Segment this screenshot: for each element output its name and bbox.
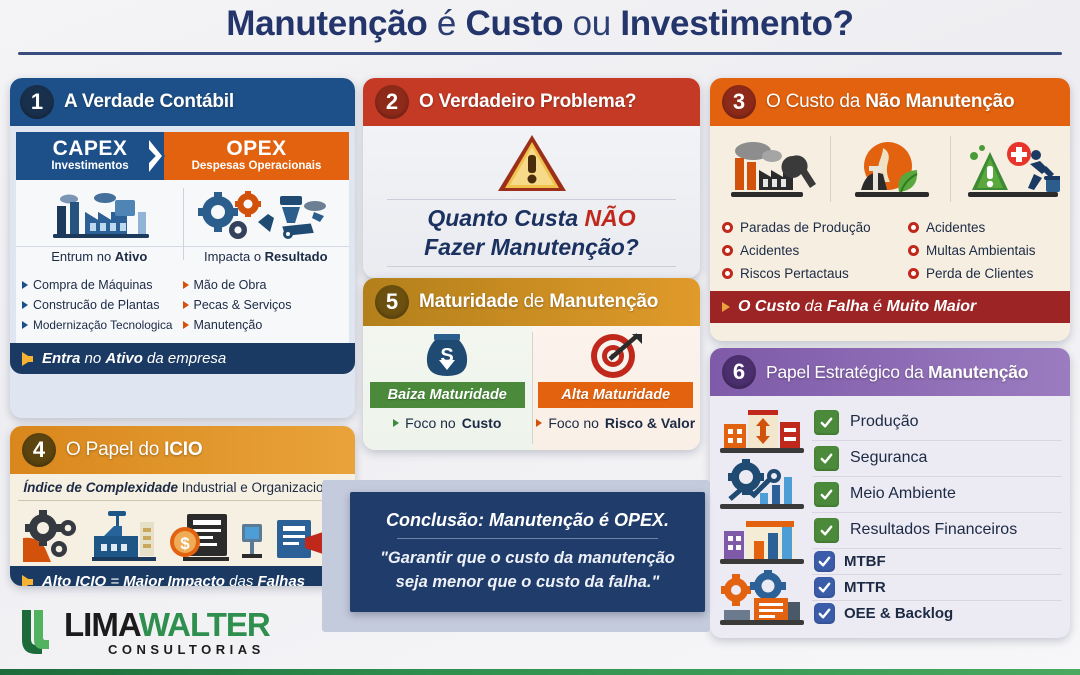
p5t1: Maturidade: [419, 291, 518, 312]
ring-bullet-icon: [908, 245, 919, 256]
opex-item-label: Pecas & Serviços: [194, 295, 292, 315]
yellow-arrow-icon: [22, 352, 33, 366]
panel2-divider-top: [387, 199, 677, 200]
panel2-divider-bottom: [387, 266, 677, 267]
buildings-arrows-icon: [720, 404, 804, 456]
bullet-triangle-icon: [183, 281, 189, 289]
panel4-subtitle-thin: Industrial e Organizacional: [178, 480, 342, 495]
check-icon: [814, 410, 839, 435]
panel4-number-badge: 4: [22, 433, 56, 467]
bullet-triangle-icon: [393, 419, 399, 427]
panel6-body: Produção Seguranca Meio Ambiente Resulta…: [710, 396, 1070, 634]
list-item: Meio Ambiente: [812, 477, 1062, 513]
panel1-header: 1 A Verdade Contábil: [10, 78, 355, 126]
check-label: Produção: [850, 413, 919, 431]
logo-tagline: CONSULTORIAS: [108, 643, 270, 656]
check-label: Resultados Financeiros: [850, 521, 1017, 539]
capex-sublabel: Investimentos: [51, 159, 128, 173]
panel1-number-badge: 1: [20, 85, 54, 119]
yellow-arrow-icon: [22, 575, 33, 587]
opex-block: OPEX Despesas Operacionais: [164, 132, 349, 180]
gear-chart-icon: [720, 459, 804, 511]
opex-label: OPEX: [226, 139, 286, 159]
company-logo: LIMAWALTER CONSULTORIAS: [18, 608, 270, 660]
list-item: Compra de Máquinas: [22, 275, 183, 295]
capex-opex-row: CAPEX Investimentos OPEX Despesas Operac…: [16, 132, 349, 180]
logo-name-dark: LIMA: [64, 606, 139, 643]
bullet-triangle-icon: [22, 321, 28, 329]
list-item: Construcão de Plantas: [22, 295, 183, 315]
concl-b: Manutenção é OPEX.: [489, 510, 669, 530]
panel1-icon-row: Entrum no Ativo: [16, 180, 349, 268]
q-line1-b: NÃO: [585, 205, 636, 231]
check-icon: [814, 603, 835, 624]
title-word-3: Custo: [466, 4, 564, 43]
list-item: Mão de Obra: [183, 275, 344, 295]
f4a: Alto ICIO: [42, 573, 106, 586]
check-icon: [814, 551, 835, 572]
panel4-title-thin: O Papel do: [66, 439, 164, 460]
check-label: Meio Ambiente: [850, 485, 956, 503]
f3b: da: [800, 298, 827, 315]
footer-a: Entra: [42, 350, 80, 367]
list-item: Acidentes: [722, 239, 908, 262]
high-foot-thin: Foco no: [548, 415, 599, 431]
p3-item-label: Acidentes: [926, 216, 985, 239]
safety-hazard-runner-icon: [960, 140, 1060, 206]
opex-item-label: Mão de Obra: [194, 275, 267, 295]
monitor-icon: [238, 508, 266, 564]
capex-item-label: Construcão de Plantas: [33, 295, 159, 315]
svg-text:$: $: [180, 534, 190, 553]
capex-item-label: Compra de Máquinas: [33, 275, 153, 295]
title-word-4: ou: [573, 4, 611, 43]
ring-bullet-icon: [908, 222, 919, 233]
list-item: Manutenção: [183, 315, 344, 335]
list-item: Paradas de Produção: [722, 216, 908, 239]
panel3-number-badge: 3: [722, 85, 756, 119]
panel1-title: A Verdade Contábil: [64, 91, 234, 113]
low-foot-bold: Custo: [462, 415, 502, 431]
panel-strategic-role: 6 Papel Estratégico da Manutenção: [710, 348, 1070, 638]
panel3-icon-row: [710, 126, 1070, 212]
capex-caption: Entrum no Ativo: [51, 249, 147, 264]
high-maturity-footer: Foco no Risco & Valor: [536, 415, 695, 431]
bottom-accent-bar: [0, 669, 1080, 675]
check-icon: [814, 446, 839, 471]
footer-b: no: [80, 350, 105, 367]
money-bag-down-icon: S: [421, 332, 473, 380]
panel3-column-2: Acidentes Multas Ambientais Perda de Cli…: [908, 216, 1060, 285]
lima-walter-logo-mark: [18, 608, 58, 660]
logo-text: LIMAWALTER CONSULTORIAS: [64, 608, 270, 656]
panel3-icon-cell: [710, 126, 830, 212]
list-item: Pecas & Serviços: [183, 295, 344, 315]
panel5-number-badge: 5: [375, 285, 409, 319]
panel3-lists: Paradas de Produção Acidentes Riscos Per…: [710, 212, 1070, 291]
pollution-leaf-icon: [843, 140, 937, 206]
title-word-5: Investimento?: [620, 4, 853, 43]
panel3-column-1: Paradas de Produção Acidentes Riscos Per…: [722, 216, 908, 285]
panel4-header: 4 O Papel do ICIO: [10, 426, 355, 474]
panel4-footer: Alto ICIO = Maior Impacto das Falhas: [10, 566, 355, 586]
page-header: Manutenção é Custo ou Investimento?: [0, 0, 1080, 55]
p3-item-label: Multas Ambientais: [926, 239, 1036, 262]
panel6-title: Papel Estratégico da Manutenção: [766, 362, 1028, 383]
ring-bullet-icon: [722, 268, 733, 279]
metric-label: OEE & Backlog: [844, 605, 953, 622]
list-item: MTBF: [812, 549, 1062, 575]
factory-icon: [43, 190, 155, 246]
panel6-list: Produção Seguranca Meio Ambiente Resulta…: [808, 402, 1062, 628]
gears-wrench-icon: [196, 190, 336, 246]
capex-block: CAPEX Investimentos: [16, 132, 164, 180]
bullet-triangle-icon: [22, 301, 28, 309]
p5t3: Manutenção: [549, 291, 658, 312]
conclusion-quote: "Garantir que o custo da manutenção seja…: [380, 546, 675, 594]
f4c: Maior Impacto: [123, 573, 225, 586]
panel1-footer-text: Entra no Ativo da empresa: [42, 350, 226, 367]
check-icon: [814, 518, 839, 543]
ring-bullet-icon: [722, 222, 733, 233]
orange-arrow-icon: [722, 302, 730, 312]
low-maturity-footer: Foco no Custo: [393, 415, 501, 431]
maturity-row: S Baiza Maturidade Foco no Custo Alta Ma…: [363, 326, 700, 450]
logo-name-green: WALTER: [139, 606, 270, 643]
logo-wordmark: LIMAWALTER: [64, 608, 270, 641]
f4e: Falhas: [258, 573, 306, 586]
capex-caption-bold: Ativo: [115, 249, 148, 264]
panel3-title: O Custo da Não Manutenção: [766, 91, 1014, 113]
panel5-title: Maturidade de Manutenção: [419, 291, 658, 313]
building-bars-icon: [720, 515, 804, 567]
list-item: Resultados Financeiros: [812, 513, 1062, 549]
panel4-title: O Papel do ICIO: [66, 439, 202, 461]
panel2-header: 2 O Verdadeiro Problema?: [363, 78, 700, 126]
p3t1: O Custo da: [766, 91, 865, 112]
list-item: Riscos Pertactaus: [722, 262, 908, 285]
f4b: =: [106, 573, 123, 586]
opex-item-label: Manutenção: [194, 315, 263, 335]
opex-caption-bold: Resultado: [265, 249, 328, 264]
low-foot-thin: Foco no: [405, 415, 456, 431]
footer-d: da empresa: [143, 350, 226, 367]
opex-caption-thin: Impacta o: [204, 249, 265, 264]
opex-icon-cell: Impacta o Resultado: [183, 180, 350, 268]
list-item: Acidentes: [908, 216, 1060, 239]
panel3-icon-cell: [830, 126, 950, 212]
panel2-question: Quanto Custa NÃO Fazer Manutenção?: [424, 204, 639, 262]
panel-accounting-truth: 1 A Verdade Contábil CAPEX Investimentos…: [10, 78, 355, 418]
panel3-icon-cell: [950, 126, 1070, 212]
q-line2: Fazer Manutenção?: [424, 234, 639, 260]
p3-item-label: Perda de Clientes: [926, 262, 1033, 285]
gears-icon: [21, 508, 83, 564]
target-arrow-icon: [588, 332, 644, 380]
list-item: OEE & Backlog: [812, 601, 1062, 626]
ring-bullet-icon: [908, 268, 919, 279]
page-title: Manutenção é Custo ou Investimento?: [0, 2, 1080, 46]
panel4-subtitle-bold: Índice de Complexidade: [23, 480, 178, 495]
opex-bullet-column: Mão de Obra Pecas & Serviços Manutenção: [183, 275, 344, 335]
factory-icon: [92, 508, 156, 564]
high-maturity-label: Alta Maturidade: [538, 382, 693, 408]
ring-bullet-icon: [722, 245, 733, 256]
panel-icio-role: 4 O Papel do ICIO Índice de Complexidade…: [10, 426, 355, 586]
check-icon: [814, 577, 835, 598]
conclusion-title: Conclusão: Manutenção é OPEX.: [386, 510, 669, 531]
check-label: Seguranca: [850, 449, 927, 467]
panel-cost-of-no-maintenance: 3 O Custo da Não Manutenção: [710, 78, 1070, 341]
p6t1: Papel Estratégico da: [766, 362, 928, 382]
footer-c: Ativo: [105, 350, 143, 367]
panel2-title: O Verdadeiro Problema?: [419, 91, 636, 113]
quote-line-2: seja menor que o custo da falha.": [396, 573, 660, 591]
p5t2: de: [518, 291, 549, 312]
panel4-footer-text: Alto ICIO = Maior Impacto das Falhas: [42, 573, 305, 586]
q-line1-a: Quanto Custa: [427, 205, 584, 231]
check-icon: [814, 482, 839, 507]
f3c: Falha: [827, 298, 869, 315]
f3a: O Custo: [738, 298, 800, 315]
list-item: Multas Ambientais: [908, 239, 1060, 262]
gears-document-icon: [720, 570, 804, 626]
quote-line-1: "Garantir que o custo da manutenção: [380, 549, 675, 567]
opex-caption: Impacta o Resultado: [204, 249, 328, 264]
low-maturity-block: S Baiza Maturidade Foco no Custo: [363, 326, 532, 450]
capex-item-label: Modernização Tecnologica: [33, 315, 172, 335]
panel4-subtitle: Índice de Complexidade Industrial e Orga…: [10, 474, 355, 504]
panel-real-problem: 2 O Verdadeiro Problema? Quanto Custa NÃ…: [363, 78, 700, 278]
f3e: Muito Maior: [887, 298, 977, 315]
panel3-header: 3 O Custo da Não Manutenção: [710, 78, 1070, 126]
panel3-footer: O Custo da Falha é Muito Maior: [710, 291, 1070, 323]
p3-item-label: Paradas de Produção: [740, 216, 871, 239]
panel1-bullet-lists: Compra de Máquinas Construcão de Plantas…: [16, 268, 349, 343]
title-divider: [18, 52, 1062, 55]
p3-item-label: Riscos Pertactaus: [740, 262, 849, 285]
p3t2: Não Manutenção: [865, 91, 1014, 112]
conclusion-box: Conclusão: Manutenção é OPEX. "Garantir …: [350, 492, 705, 612]
panel2-number-badge: 2: [375, 85, 409, 119]
capex-bullet-column: Compra de Máquinas Construcão de Plantas…: [22, 275, 183, 335]
panel6-icon-column: [716, 402, 808, 628]
panel4-icon-row: $: [10, 504, 355, 566]
panel1-footer: Entra no Ativo da empresa: [10, 343, 355, 374]
p3-item-label: Acidentes: [740, 239, 799, 262]
panel-maintenance-maturity: 5 Maturidade de Manutenção S Baiza Matur…: [363, 278, 700, 450]
bullet-triangle-icon: [183, 301, 189, 309]
high-maturity-block: Alta Maturidade Foco no Risco & Valor: [532, 326, 701, 450]
panel3-footer-text: O Custo da Falha é Muito Maior: [738, 298, 976, 316]
panel4-title-bold: ICIO: [164, 439, 202, 460]
f4d: das: [225, 573, 258, 586]
title-word-1: Manutenção: [226, 4, 427, 43]
warning-triangle-icon: [496, 133, 568, 195]
capex-label: CAPEX: [53, 139, 128, 159]
metric-label: MTBF: [844, 553, 886, 570]
list-item: Seguranca: [812, 441, 1062, 477]
metric-label: MTTR: [844, 579, 886, 596]
high-foot-bold: Risco & Valor: [605, 415, 695, 431]
bullet-triangle-icon: [536, 419, 542, 427]
title-word-2: é: [437, 4, 456, 43]
panel6-header: 6 Papel Estratégico da Manutenção: [710, 348, 1070, 396]
conclusion-divider: [397, 538, 659, 539]
f3d: é: [869, 298, 887, 315]
concl-a: Conclusão:: [386, 510, 489, 530]
list-item: Modernização Tecnologica: [22, 315, 183, 335]
panel5-header: 5 Maturidade de Manutenção: [363, 278, 700, 326]
p6t2: Manutenção: [928, 362, 1028, 382]
list-item: Produção: [812, 405, 1062, 441]
money-document-icon: $: [165, 508, 229, 564]
panel2-body: Quanto Custa NÃO Fazer Manutenção?: [363, 126, 700, 278]
list-item: MTTR: [812, 575, 1062, 601]
panel6-number-badge: 6: [722, 355, 756, 389]
factory-wrench-icon: [723, 140, 817, 206]
list-item: Perda de Clientes: [908, 262, 1060, 285]
opex-sublabel: Despesas Operacionais: [192, 159, 322, 173]
bullet-triangle-icon: [22, 281, 28, 289]
capex-caption-thin: Entrum no: [51, 249, 115, 264]
low-maturity-label: Baiza Maturidade: [370, 382, 525, 408]
bullet-triangle-icon: [183, 321, 189, 329]
capex-icon-cell: Entrum no Ativo: [16, 180, 183, 268]
